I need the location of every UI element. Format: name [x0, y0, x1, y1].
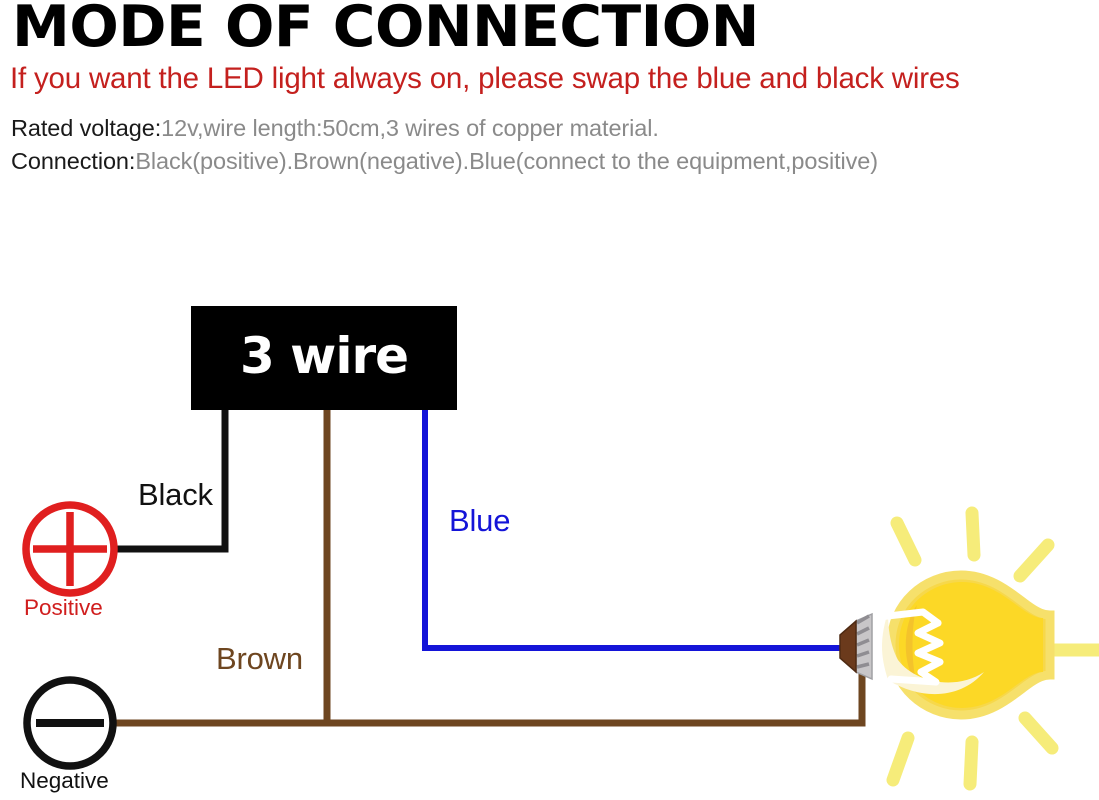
three-wire-device-label: 3 wire	[191, 306, 457, 410]
negative-terminal-label: Negative	[20, 768, 109, 794]
bulb-screw-base	[840, 614, 872, 679]
light-bulb	[840, 513, 1099, 784]
blue-wire-label: Blue	[449, 503, 510, 539]
positive-terminal	[26, 505, 114, 593]
connection-diagram-page: MODE OF CONNECTION If you want the LED l…	[0, 0, 1099, 800]
wiring-diagram	[0, 0, 1099, 800]
black-wire-label: Black	[138, 477, 213, 513]
three-wire-device-box: 3 wire	[191, 306, 457, 410]
negative-terminal	[27, 680, 113, 766]
bulb-glass	[891, 575, 1050, 715]
positive-terminal-label: Positive	[24, 595, 103, 621]
brown-wire-label: Brown	[216, 641, 303, 677]
